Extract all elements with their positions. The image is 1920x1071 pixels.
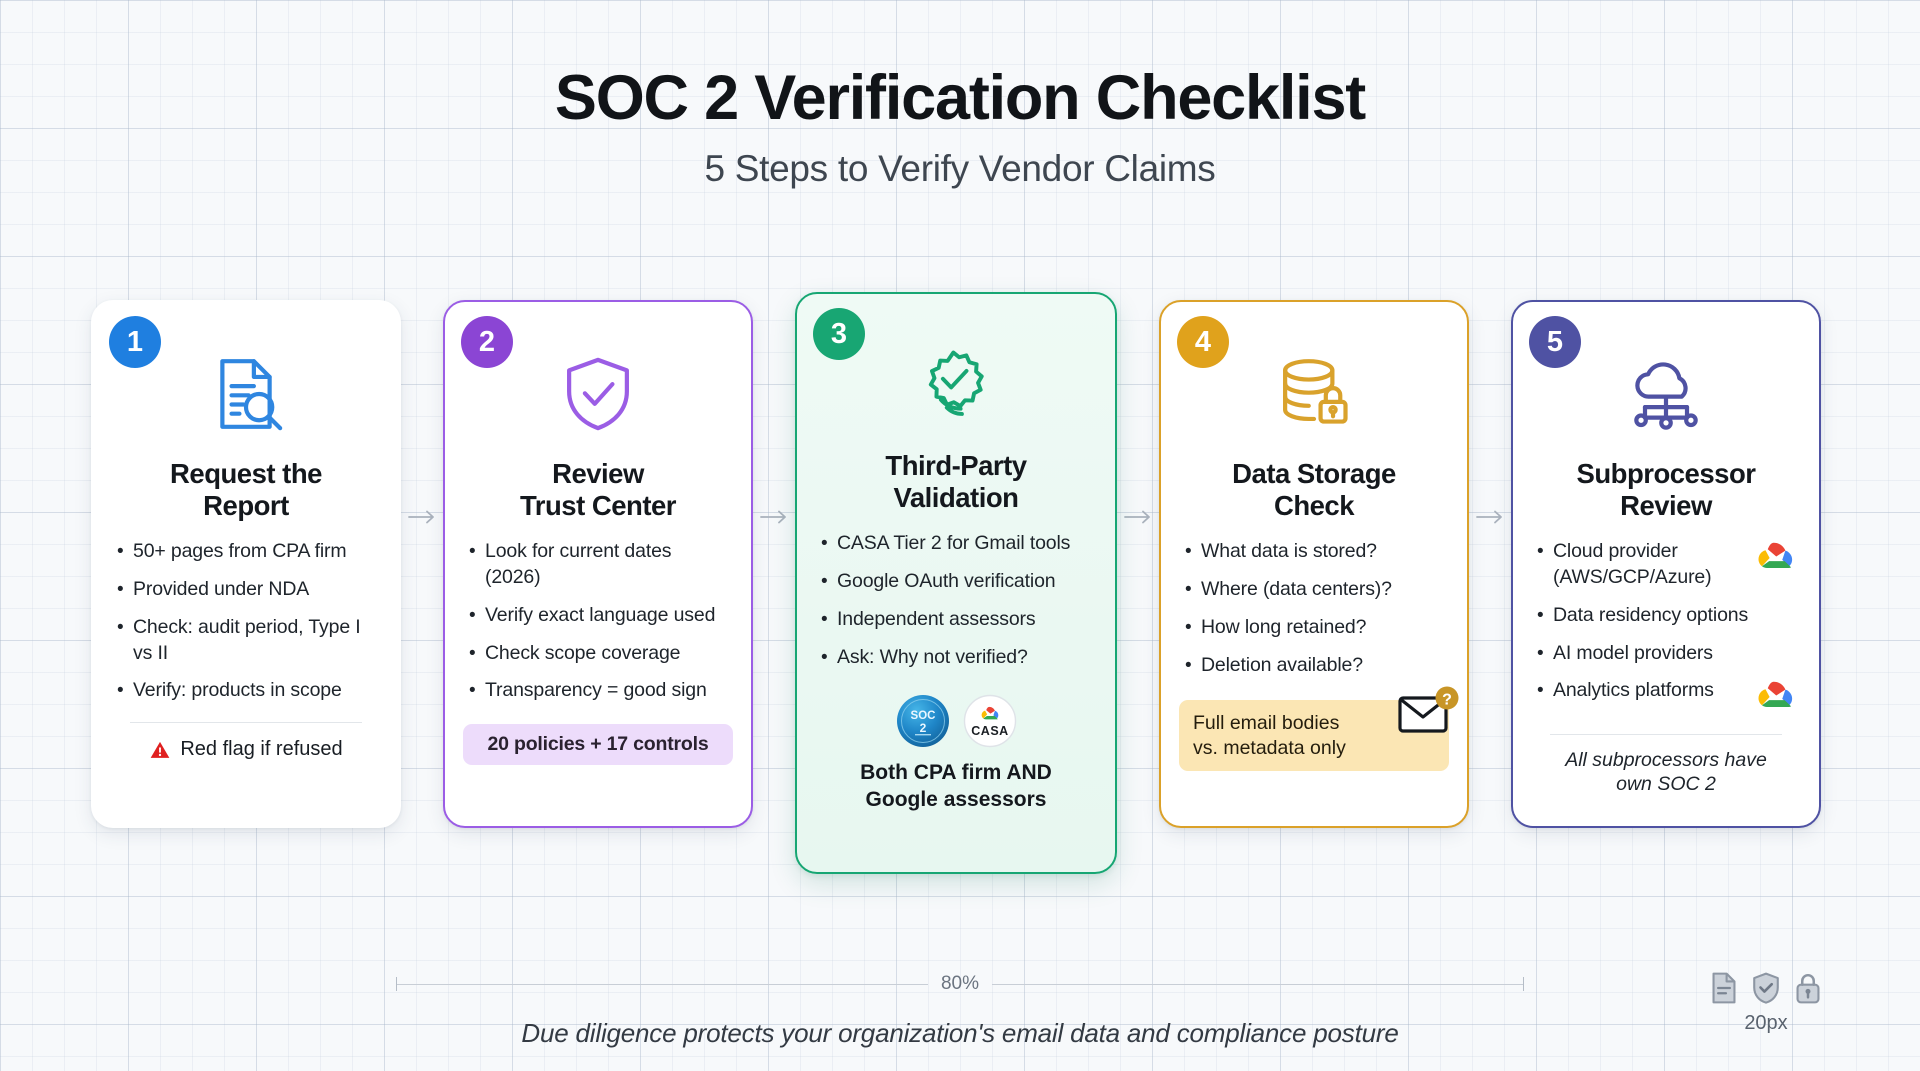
list-item: •Ask: Why not verified?: [821, 645, 1091, 671]
list-item: •Verify: products in scope: [117, 678, 375, 704]
list-item: •AI model providers: [1537, 641, 1795, 667]
bullet-text: Verify: products in scope: [133, 678, 375, 704]
bullet-text: Provided under NDA: [133, 577, 375, 603]
bullet-dot: •: [1185, 577, 1201, 603]
bullet-text: Verify exact language used: [485, 603, 727, 629]
bullet-dot: •: [821, 569, 837, 595]
list-item: •CASA Tier 2 for Gmail tools: [821, 531, 1091, 557]
bullet-dot: •: [117, 615, 133, 666]
bullet-text: Check: audit period, Type I vs II: [133, 615, 375, 666]
bullet-text: Ask: Why not verified?: [837, 645, 1091, 671]
width-ruler: 80%: [396, 973, 1524, 995]
bullet-dot: •: [469, 603, 485, 629]
bullet-text: AI model providers: [1553, 641, 1795, 667]
card-title-line2: Check: [1274, 490, 1354, 521]
legend-label: 20px: [1708, 1012, 1824, 1035]
red-flag-text: Red flag if refused: [180, 738, 342, 761]
connector-arrow-2: [753, 508, 795, 526]
document-icon: [1708, 971, 1740, 1005]
steps-row: 1 Request the Report •50+ pages from CPA…: [0, 300, 1920, 874]
bullet-text: Cloud provider (AWS/GCP/Azure): [1553, 539, 1755, 590]
list-item: •50+ pages from CPA firm: [117, 539, 375, 565]
card-title-line2: Validation: [894, 482, 1019, 513]
bullet-list-3: •CASA Tier 2 for Gmail tools •Google OAu…: [815, 531, 1097, 682]
bullet-dot: •: [117, 678, 133, 704]
divider: [1550, 734, 1782, 735]
bullet-list-1: •50+ pages from CPA firm •Provided under…: [111, 539, 381, 716]
list-item: •Transparency = good sign: [469, 678, 727, 704]
ruler-cap-right: [1523, 977, 1524, 991]
step-number-badge-1: 1: [109, 316, 161, 368]
assessors-caption: Both CPA firm AND Google assessors: [860, 760, 1052, 813]
footer: 80% Due diligence protects your organiza…: [0, 973, 1920, 1049]
note-line2: own SOC 2: [1616, 773, 1716, 795]
bullet-text: What data is stored?: [1201, 539, 1443, 565]
svg-text:2: 2: [919, 721, 926, 735]
bullet-dot: •: [1537, 539, 1553, 590]
card-title-4: Data Storage Check: [1232, 458, 1396, 522]
bullet-dot: •: [469, 678, 485, 704]
step-number-badge-5: 5: [1529, 316, 1581, 368]
legend-icons: [1708, 971, 1824, 1005]
card-title-line1: Data Storage: [1232, 458, 1396, 489]
step-card-5[interactable]: 5 Subprocessor Review • C: [1511, 300, 1821, 828]
card-title-line1: Third-Party: [885, 450, 1026, 481]
note-line2: vs. metadata only: [1193, 737, 1346, 759]
bullet-dot: •: [1185, 653, 1201, 679]
list-item: • Analytics platforms: [1537, 678, 1795, 716]
infographic-canvas: SOC 2 Verification Checklist 5 Steps to …: [0, 0, 1920, 1071]
casa-badge-logo: CASA: [963, 694, 1017, 748]
list-item: •What data is stored?: [1185, 539, 1443, 565]
card-title-line2: Report: [203, 490, 289, 521]
list-item: •Where (data centers)?: [1185, 577, 1443, 603]
legend-block: 20px: [1708, 971, 1824, 1035]
subprocessor-note: All subprocessors have own SOC 2: [1565, 748, 1767, 797]
shield-check-icon: [556, 346, 640, 442]
card-title-line1: Review: [552, 458, 644, 489]
google-cloud-logo: [1755, 678, 1795, 716]
list-item: •Check scope coverage: [469, 641, 727, 667]
note-line1: All subprocessors have: [1565, 749, 1767, 771]
bullet-text: Where (data centers)?: [1201, 577, 1443, 603]
bullet-text: Transparency = good sign: [485, 678, 727, 704]
card-title-1: Request the Report: [170, 458, 322, 522]
connector-arrow-1: [401, 508, 443, 526]
certification-logos: SOC 2 CASA: [896, 694, 1017, 748]
step-number-badge-2: 2: [461, 316, 513, 368]
card-title-line2: Review: [1620, 490, 1712, 521]
bullet-dot: •: [1537, 678, 1553, 716]
step-card-3[interactable]: 3 Third-Party Validation •CASA Tier 2 fo…: [795, 292, 1117, 874]
list-item: •Verify exact language used: [469, 603, 727, 629]
card-title-2: Review Trust Center: [520, 458, 676, 522]
page-subtitle: 5 Steps to Verify Vendor Claims: [0, 148, 1920, 190]
bullet-dot: •: [469, 641, 485, 667]
card-title-line1: Subprocessor: [1577, 458, 1756, 489]
bullet-dot: •: [821, 645, 837, 671]
tagline: Due diligence protects your organization…: [0, 1018, 1920, 1049]
connector-arrow-4: [1469, 508, 1511, 526]
envelope-question-icon: ?: [1397, 686, 1461, 744]
policies-controls-pill: 20 policies + 17 controls: [463, 724, 733, 765]
list-item: •Look for current dates (2026): [469, 539, 727, 590]
card-title-line1: Request the: [170, 458, 322, 489]
email-scope-note: Full email bodies vs. metadata only ?: [1179, 700, 1449, 771]
card-title-3: Third-Party Validation: [885, 450, 1026, 514]
database-lock-icon: [1272, 346, 1356, 442]
step-number-badge-4: 4: [1177, 316, 1229, 368]
bullet-text: Check scope coverage: [485, 641, 727, 667]
caption-line1: Both CPA firm AND: [860, 761, 1052, 784]
bullet-list-5: • Cloud provider (AWS/GCP/Azure) •Data r…: [1531, 539, 1801, 728]
step-card-4[interactable]: 4 Data Storage Check •What data is: [1159, 300, 1469, 828]
bullet-text: CASA Tier 2 for Gmail tools: [837, 531, 1091, 557]
divider: [130, 722, 362, 723]
note-line1: Full email bodies: [1193, 712, 1339, 734]
ruler-value: 80%: [928, 973, 992, 995]
bullet-dot: •: [1537, 603, 1553, 629]
bullet-text: Deletion available?: [1201, 653, 1443, 679]
list-item: •Check: audit period, Type I vs II: [117, 615, 375, 666]
card-title-line2: Trust Center: [520, 490, 676, 521]
list-item: •Independent assessors: [821, 607, 1091, 633]
bullet-dot: •: [1185, 539, 1201, 565]
google-cloud-logo: [1755, 539, 1795, 590]
list-item: •Data residency options: [1537, 603, 1795, 629]
bullet-text: Independent assessors: [837, 607, 1091, 633]
step-card-2[interactable]: 2 Review Trust Center •Look for current …: [443, 300, 753, 828]
bullet-dot: •: [821, 531, 837, 557]
shield-check-icon: [1750, 971, 1782, 1005]
bullet-text: Look for current dates (2026): [485, 539, 727, 590]
step-card-1[interactable]: 1 Request the Report •50+ pages from CPA…: [91, 300, 401, 828]
list-item: •Deletion available?: [1185, 653, 1443, 679]
list-item: •Provided under NDA: [117, 577, 375, 603]
bullet-dot: •: [469, 539, 485, 590]
bullet-dot: •: [1185, 615, 1201, 641]
list-item: • Cloud provider (AWS/GCP/Azure): [1537, 539, 1795, 590]
bullet-dot: •: [1537, 641, 1553, 667]
red-flag-note: Red flag if refused: [149, 738, 342, 761]
bullet-text: 50+ pages from CPA firm: [133, 539, 375, 565]
bullet-dot: •: [117, 539, 133, 565]
bullet-dot: •: [117, 577, 133, 603]
header: SOC 2 Verification Checklist 5 Steps to …: [0, 0, 1920, 190]
lock-icon: [1792, 971, 1824, 1005]
warning-triangle-icon: [149, 739, 171, 761]
soc2-badge-logo: SOC 2: [896, 694, 950, 748]
card-title-5: Subprocessor Review: [1577, 458, 1756, 522]
document-search-icon: [204, 346, 288, 442]
list-item: •Google OAuth verification: [821, 569, 1091, 595]
connector-arrow-3: [1117, 508, 1159, 526]
bullet-text: Google OAuth verification: [837, 569, 1091, 595]
ruler-line-right: [992, 984, 1523, 985]
list-item: •How long retained?: [1185, 615, 1443, 641]
bullet-text: Data residency options: [1553, 603, 1795, 629]
bullet-text: How long retained?: [1201, 615, 1443, 641]
bullet-text: Analytics platforms: [1553, 678, 1755, 716]
ruler-line-left: [397, 984, 928, 985]
svg-text:CASA: CASA: [971, 724, 1008, 738]
step-number-badge-3: 3: [813, 308, 865, 360]
bullet-list-4: •What data is stored? •Where (data cente…: [1179, 539, 1449, 690]
bullet-list-2: •Look for current dates (2026) •Verify e…: [463, 539, 733, 716]
bullet-dot: •: [821, 607, 837, 633]
verified-seal-icon: [914, 338, 998, 434]
page-title: SOC 2 Verification Checklist: [0, 66, 1920, 131]
svg-text:?: ?: [1442, 692, 1452, 709]
caption-line2: Google assessors: [866, 788, 1047, 811]
cloud-network-icon: [1624, 346, 1708, 442]
